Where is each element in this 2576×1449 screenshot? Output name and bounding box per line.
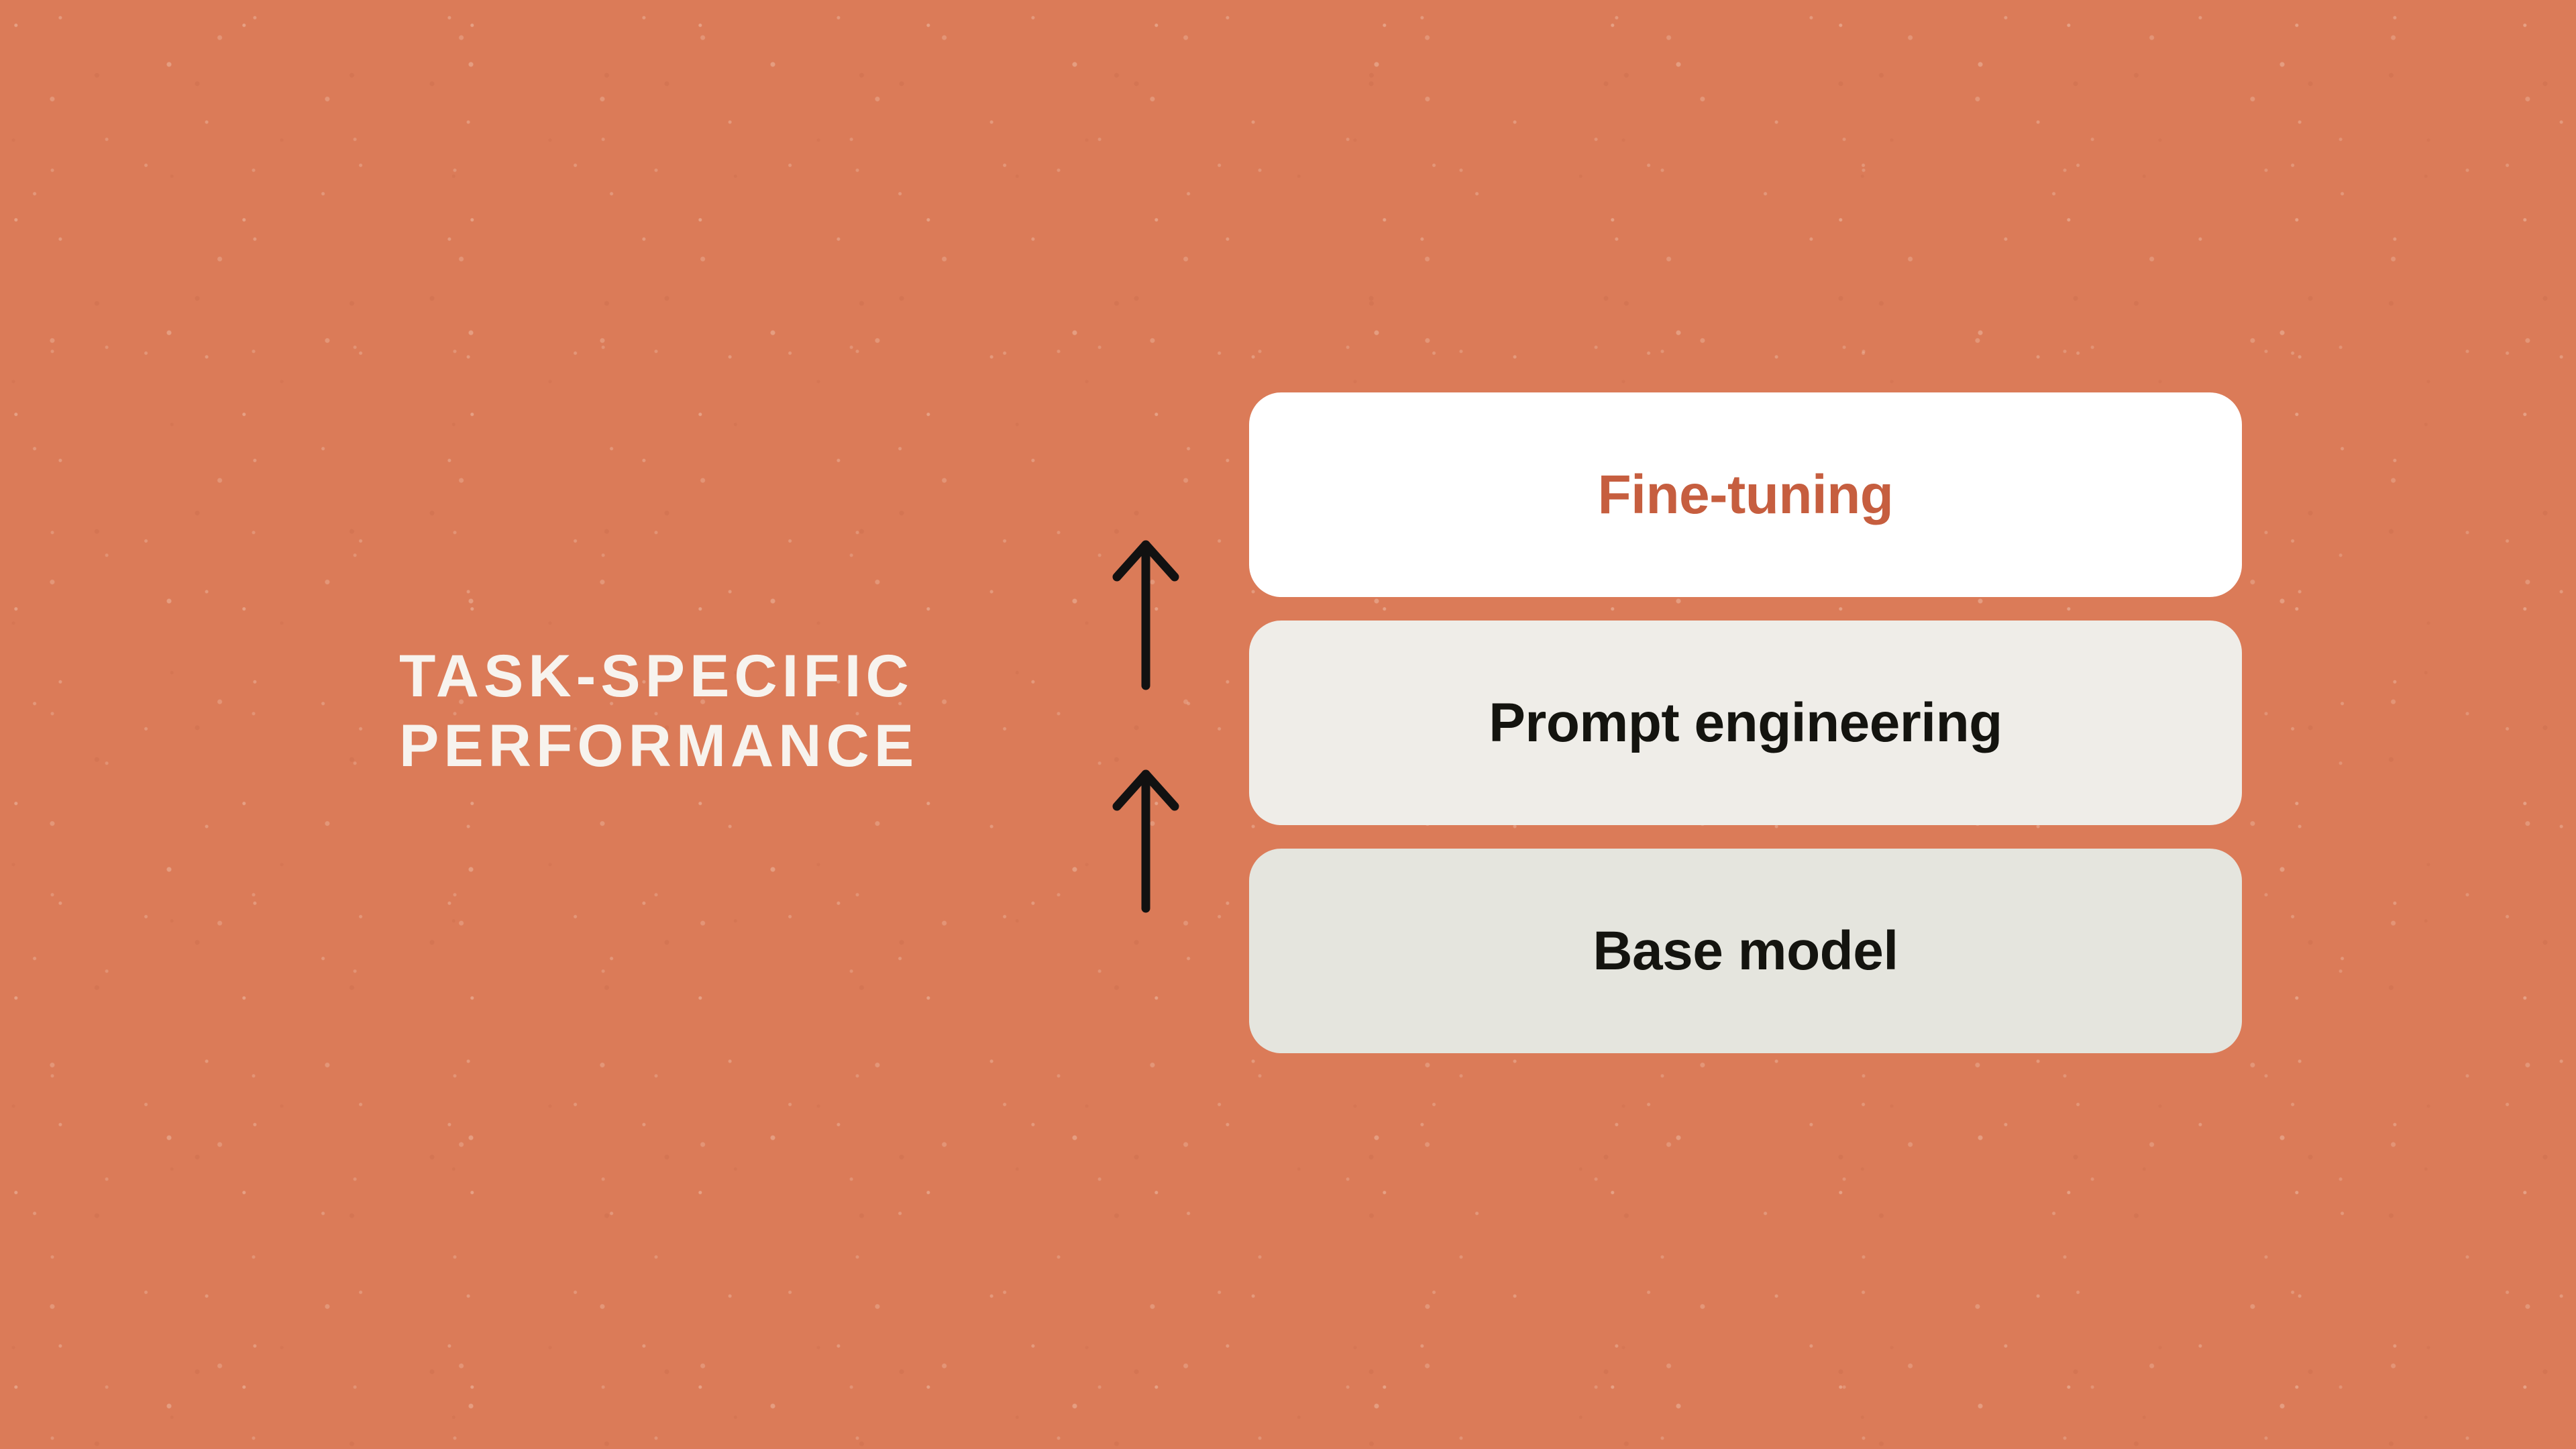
capability-stack: Fine-tuning Prompt engineering Base mode… <box>1249 392 2242 1053</box>
slide-canvas: TASK-SPECIFIC PERFORMANCE Fine-tuning Pr… <box>0 0 2576 1449</box>
task-specific-performance-label: TASK-SPECIFIC PERFORMANCE <box>399 641 1070 780</box>
lower-arrow-icon <box>1106 766 1186 915</box>
card-prompt-engineering-label: Prompt engineering <box>1489 696 2002 751</box>
card-base-model-label: Base model <box>1593 924 1898 979</box>
card-fine-tuning-label: Fine-tuning <box>1598 468 1894 523</box>
card-base-model[interactable]: Base model <box>1249 849 2242 1053</box>
card-fine-tuning[interactable]: Fine-tuning <box>1249 392 2242 597</box>
upper-arrow-icon <box>1106 537 1186 692</box>
card-prompt-engineering[interactable]: Prompt engineering <box>1249 621 2242 825</box>
